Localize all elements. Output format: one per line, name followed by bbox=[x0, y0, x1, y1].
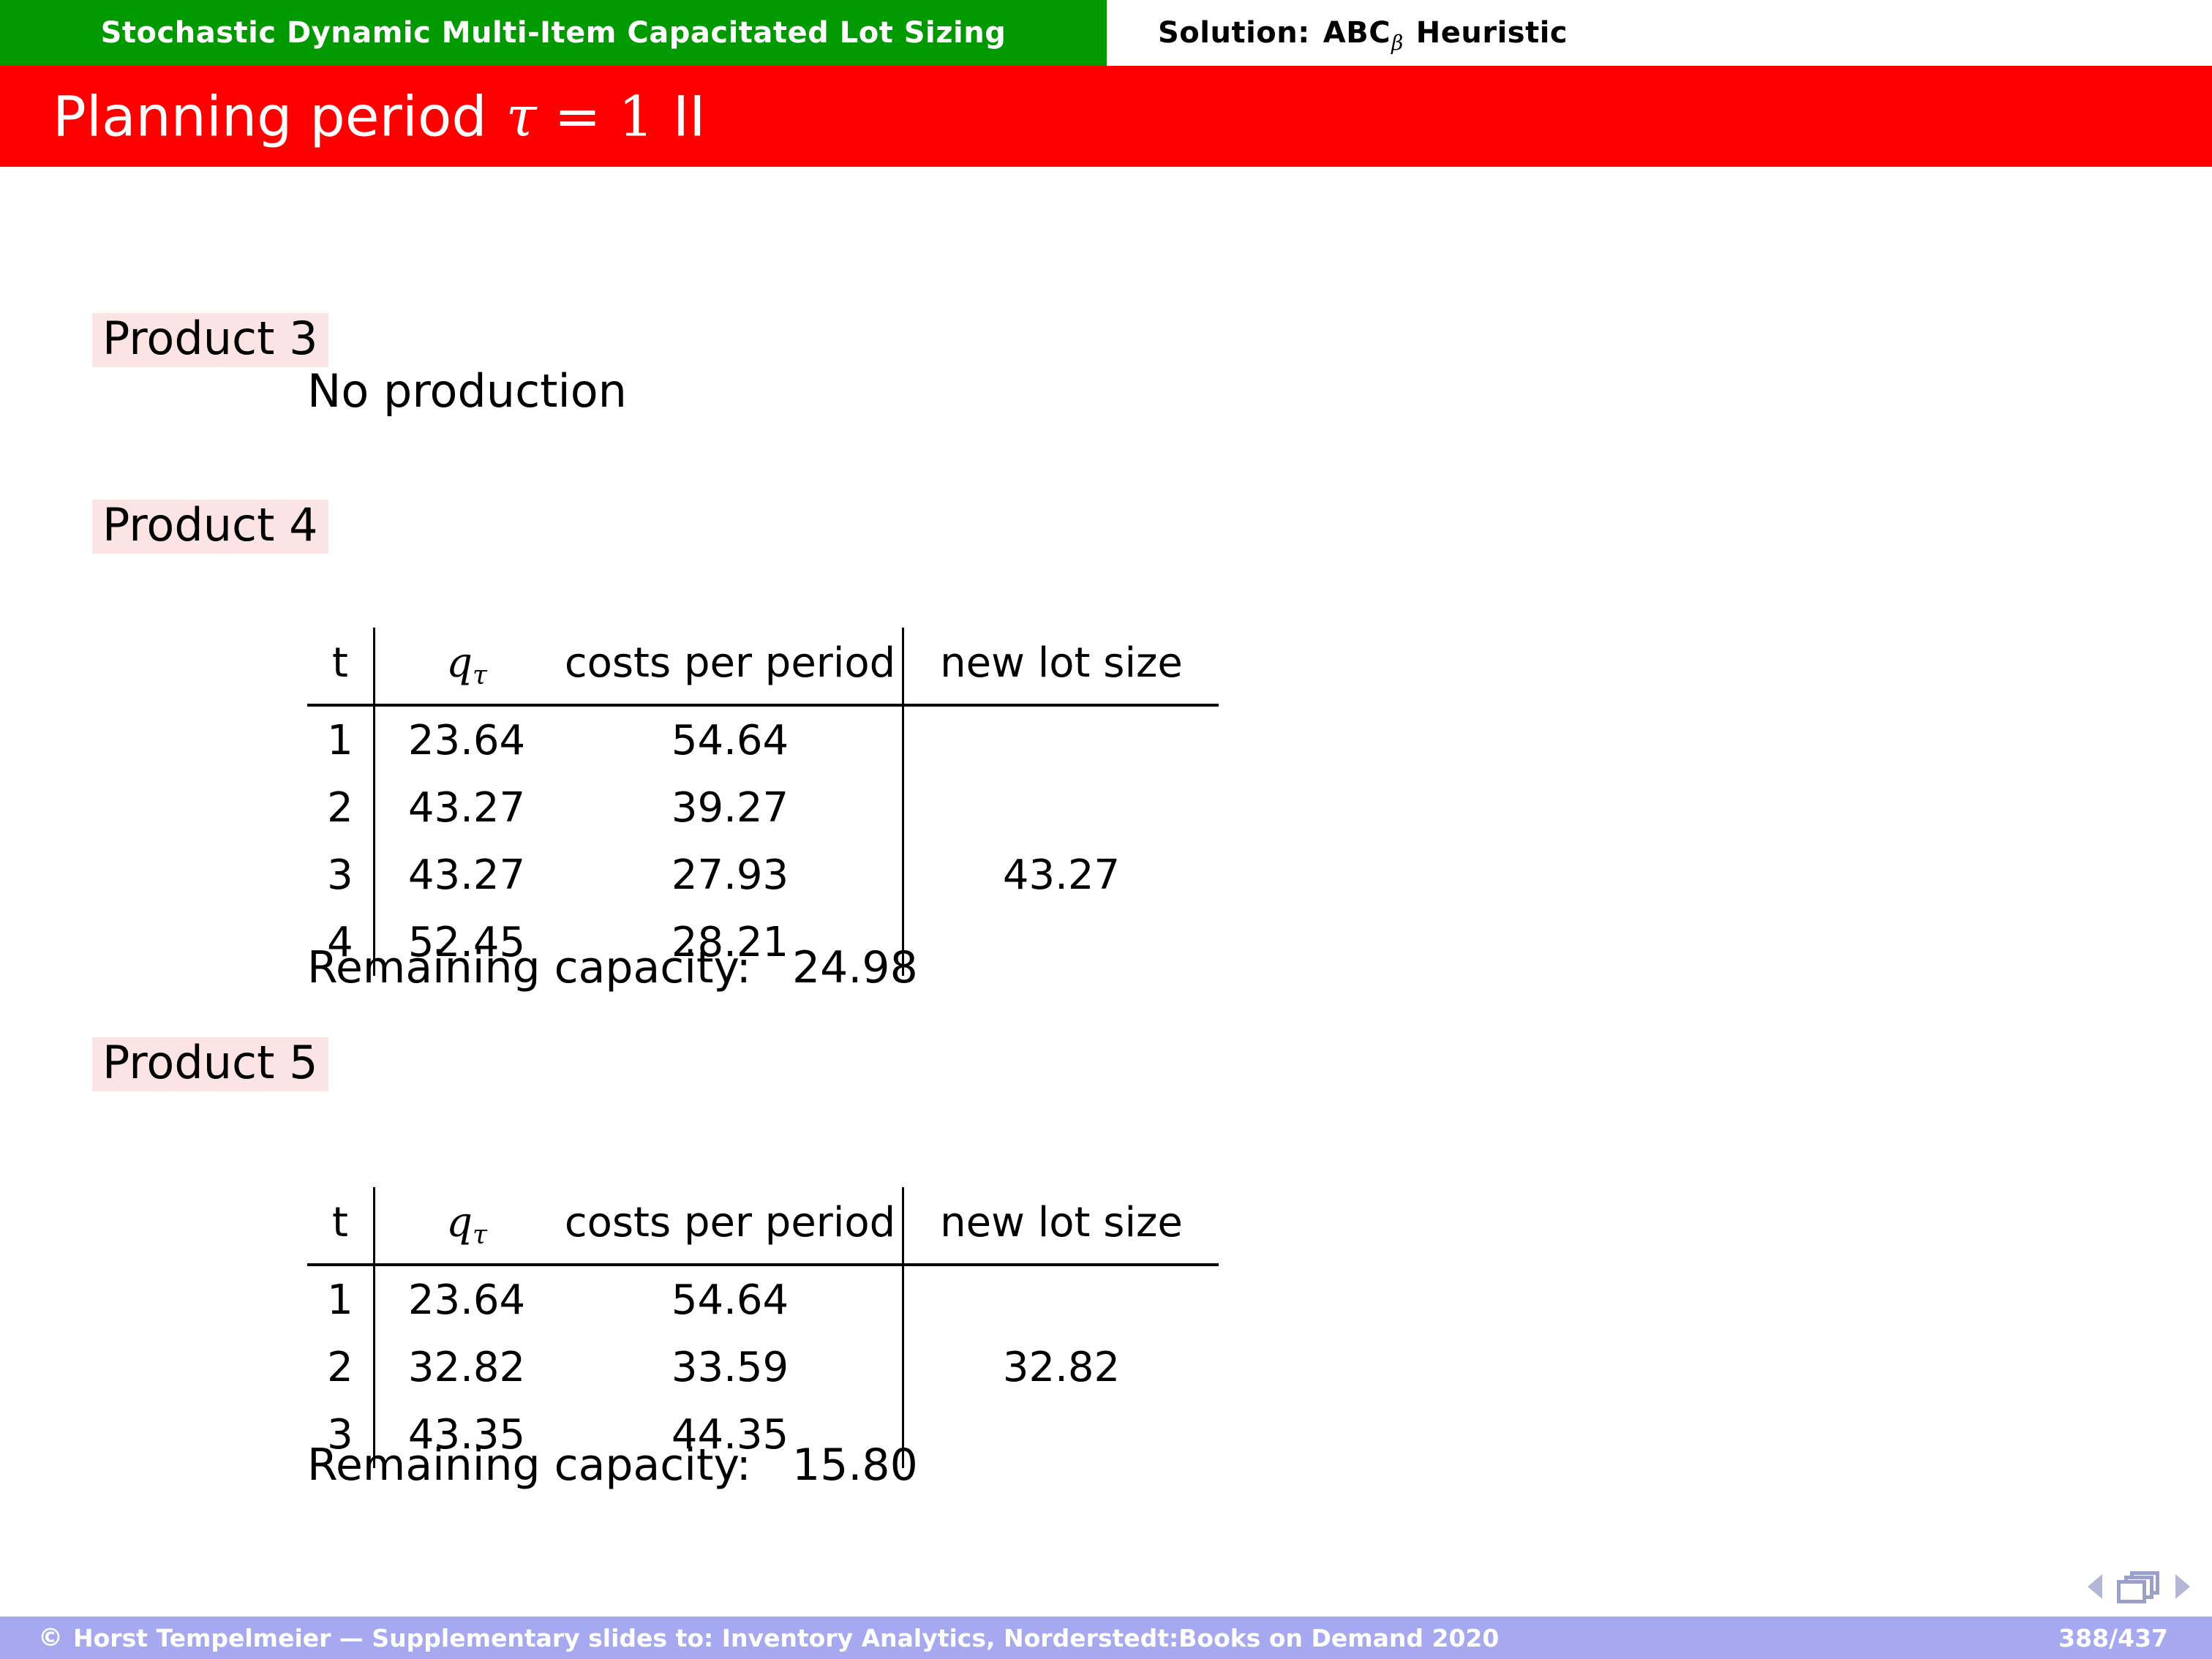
cell-t: 2 bbox=[307, 1333, 375, 1401]
cell-q: 32.82 bbox=[375, 1333, 559, 1401]
slide-navigation bbox=[2088, 1571, 2190, 1602]
col-header-new-lot-size: new lot size bbox=[903, 1187, 1219, 1265]
stacked-slides-icon[interactable] bbox=[2118, 1571, 2159, 1602]
cell-new-lot-size bbox=[903, 1401, 1219, 1468]
cell-costs: 54.64 bbox=[558, 705, 903, 774]
cell-q: 23.64 bbox=[375, 705, 559, 774]
col-header-t: t bbox=[307, 628, 375, 705]
footer-credit: © Horst Tempelmeier — Supplementary slid… bbox=[0, 1624, 1499, 1652]
triangle-left-icon[interactable] bbox=[2088, 1574, 2102, 1599]
cell-q: 23.64 bbox=[375, 1265, 559, 1333]
page-title: Planning period τ = 1 II bbox=[53, 84, 706, 149]
col-header-costs: costs per period bbox=[558, 628, 903, 705]
remaining-capacity-product-4: Remaining capacity: 24.98 bbox=[307, 942, 918, 993]
col-header-q: qτ bbox=[375, 628, 559, 705]
copyright-icon: © bbox=[38, 1625, 63, 1650]
remaining-capacity-value: 15.80 bbox=[792, 1440, 918, 1491]
slide-body: Product 3 No production Product 4 t qτ c… bbox=[0, 167, 2212, 1564]
title-suffix: II bbox=[673, 84, 706, 149]
section-heading-product-3: Product 3 bbox=[92, 313, 328, 367]
cell-new-lot-size bbox=[903, 705, 1219, 774]
product-3-note: No production bbox=[307, 364, 627, 418]
subsection-suffix: Heuristic bbox=[1416, 16, 1568, 50]
table-header-row: t qτ costs per period new lot size bbox=[307, 1187, 1219, 1265]
table-row: 2 43.27 39.27 bbox=[307, 774, 1219, 841]
cell-new-lot-size bbox=[903, 908, 1219, 976]
cell-costs: 54.64 bbox=[558, 1265, 903, 1333]
lot-size-table-product-4: t qτ costs per period new lot size 1 23.… bbox=[307, 628, 1219, 976]
remaining-capacity-label: Remaining capacity: bbox=[307, 942, 751, 993]
col-header-t: t bbox=[307, 1187, 375, 1265]
table-row: 1 23.64 54.64 bbox=[307, 1265, 1219, 1333]
cell-costs: 33.59 bbox=[558, 1333, 903, 1401]
section-nav-item[interactable]: Stochastic Dynamic Multi-Item Capacitate… bbox=[0, 0, 1107, 66]
header-bar: Stochastic Dynamic Multi-Item Capacitate… bbox=[0, 0, 2212, 66]
subsection-prefix: Solution: bbox=[1158, 16, 1310, 50]
col-header-q: qτ bbox=[375, 1187, 559, 1265]
remaining-capacity-value: 24.98 bbox=[792, 942, 918, 993]
cell-q: 43.27 bbox=[375, 841, 559, 908]
lot-size-table-product-5: t qτ costs per period new lot size 1 23.… bbox=[307, 1187, 1219, 1468]
subsection-main: ABC bbox=[1323, 16, 1391, 50]
title-prefix: Planning period bbox=[53, 84, 487, 149]
cell-new-lot-size: 32.82 bbox=[903, 1333, 1219, 1401]
remaining-capacity-product-5: Remaining capacity: 15.80 bbox=[307, 1440, 918, 1491]
title-value: 1 bbox=[618, 84, 653, 149]
section-heading-product-4: Product 4 bbox=[92, 500, 328, 554]
cell-new-lot-size: 43.27 bbox=[903, 841, 1219, 908]
table-header-row: t qτ costs per period new lot size bbox=[307, 628, 1219, 705]
cell-new-lot-size bbox=[903, 1265, 1219, 1333]
footer-bar: © Horst Tempelmeier — Supplementary slid… bbox=[0, 1617, 2212, 1659]
table-row: 3 43.27 27.93 43.27 bbox=[307, 841, 1219, 908]
cell-t: 3 bbox=[307, 841, 375, 908]
title-symbol-tau: τ bbox=[506, 84, 537, 149]
page-number: 388/437 bbox=[2058, 1624, 2212, 1652]
subsection-title: Solution: ABC β Heuristic bbox=[1158, 16, 1568, 50]
title-equals: = bbox=[554, 84, 601, 149]
table-row: 1 23.64 54.64 bbox=[307, 705, 1219, 774]
table-row: 2 32.82 33.59 32.82 bbox=[307, 1333, 1219, 1401]
footer-text: Horst Tempelmeier — Supplementary slides… bbox=[73, 1624, 1499, 1652]
section-title: Stochastic Dynamic Multi-Item Capacitate… bbox=[101, 16, 1007, 50]
col-header-costs: costs per period bbox=[558, 1187, 903, 1265]
section-heading-product-5: Product 5 bbox=[92, 1037, 328, 1091]
cell-q: 43.27 bbox=[375, 774, 559, 841]
triangle-right-icon[interactable] bbox=[2175, 1574, 2190, 1599]
remaining-capacity-label: Remaining capacity: bbox=[307, 1440, 751, 1491]
cell-t: 1 bbox=[307, 705, 375, 774]
cell-t: 2 bbox=[307, 774, 375, 841]
cell-new-lot-size bbox=[903, 774, 1219, 841]
subsection-nav-item[interactable]: Solution: ABC β Heuristic bbox=[1107, 0, 2212, 66]
slide-title-bar: Planning period τ = 1 II bbox=[0, 66, 2212, 167]
cell-t: 1 bbox=[307, 1265, 375, 1333]
cell-costs: 39.27 bbox=[558, 774, 903, 841]
col-header-new-lot-size: new lot size bbox=[903, 628, 1219, 705]
cell-costs: 27.93 bbox=[558, 841, 903, 908]
beta-subscript: β bbox=[1391, 31, 1404, 55]
